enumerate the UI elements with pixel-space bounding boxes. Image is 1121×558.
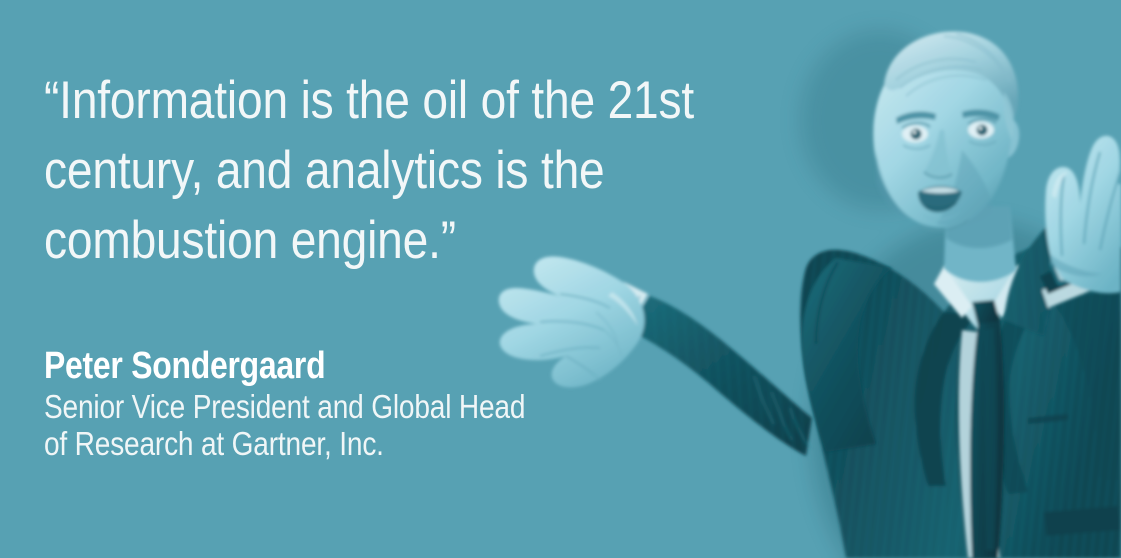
- quote-graphic: “Information is the oil of the 21st cent…: [0, 0, 1121, 558]
- quote-line-2: century, and analytics is the: [44, 136, 705, 206]
- attribution-role-line-2: of Research at Gartner, Inc.: [44, 425, 588, 462]
- quote-line-1: “Information is the oil of the 21st: [44, 66, 705, 136]
- attribution-block: Peter Sondergaard Senior Vice President …: [44, 345, 684, 462]
- attribution-name: Peter Sondergaard: [44, 345, 582, 388]
- text-layer: “Information is the oil of the 21st cent…: [0, 0, 1121, 558]
- quote-line-3: combustion engine.”: [44, 206, 705, 276]
- attribution-role-line-1: Senior Vice President and Global Head: [44, 388, 588, 425]
- quote-block: “Information is the oil of the 21st cent…: [44, 66, 804, 276]
